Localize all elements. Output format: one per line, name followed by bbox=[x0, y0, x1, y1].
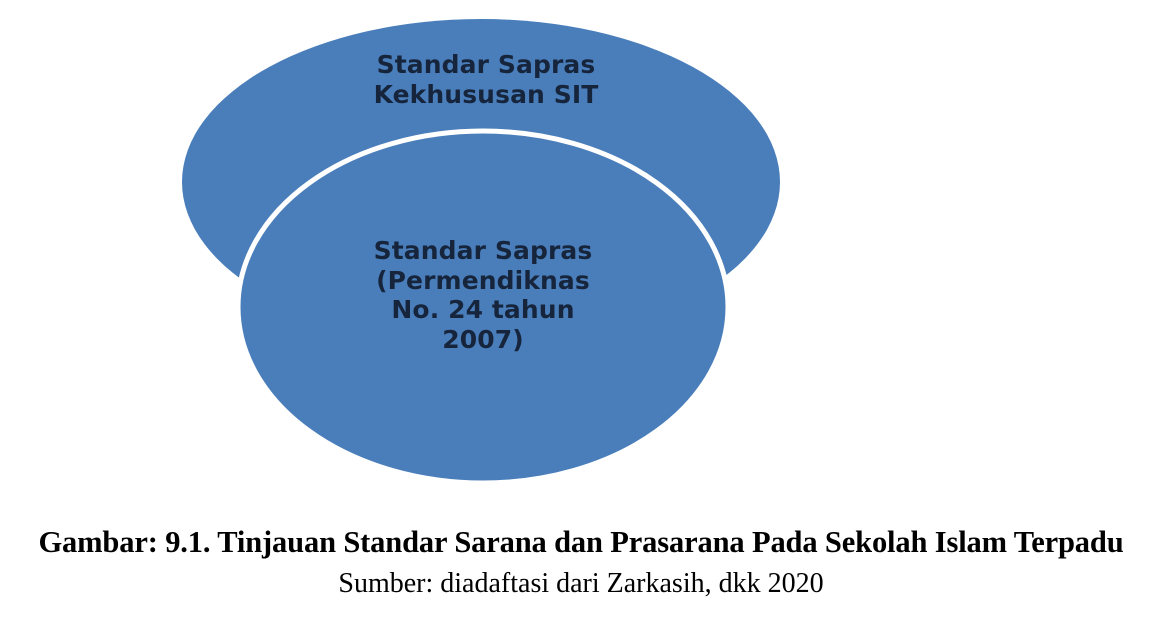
figure-caption-block: Gambar: 9.1. Tinjauan Standar Sarana dan… bbox=[0, 500, 1162, 601]
venn-diagram-svg bbox=[0, 0, 1162, 500]
figure-page: Standar Sapras Kekhususan SIT Standar Sa… bbox=[0, 0, 1162, 618]
venn-diagram: Standar Sapras Kekhususan SIT Standar Sa… bbox=[0, 0, 1162, 500]
figure-caption-source: Sumber: diadaftasi dari Zarkasih, dkk 20… bbox=[0, 567, 1162, 601]
figure-caption-title: Gambar: 9.1. Tinjauan Standar Sarana dan… bbox=[0, 524, 1162, 561]
inner-ellipse-shape bbox=[238, 131, 728, 483]
